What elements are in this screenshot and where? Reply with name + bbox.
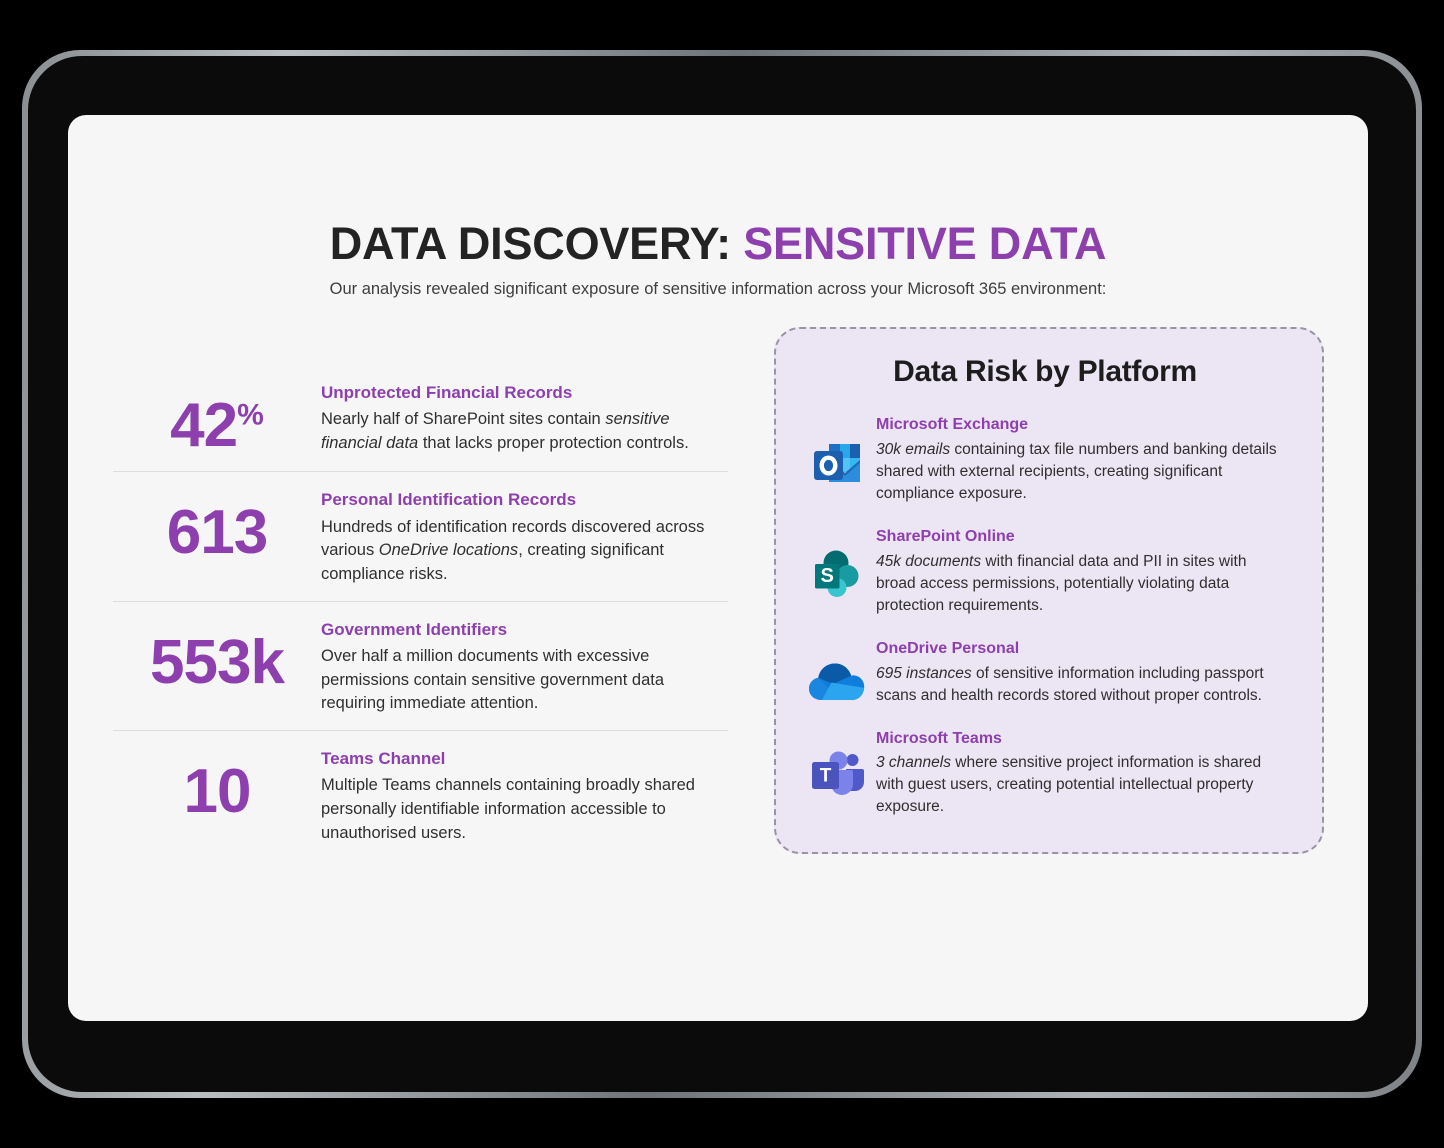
platform-name: SharePoint Online xyxy=(876,527,1286,548)
stat-text: Government Identifiers Over half a milli… xyxy=(321,615,728,716)
stat-text: Teams Channel Multiple Teams channels co… xyxy=(321,744,728,845)
stat-description: Hundreds of identification records disco… xyxy=(321,516,728,587)
page-subtitle: Our analysis revealed significant exposu… xyxy=(68,280,1368,299)
stat-value: 42% xyxy=(113,378,321,457)
platform-desc-emphasis: 695 instances xyxy=(876,665,972,682)
platform-text: Microsoft Exchange 30k emails containing… xyxy=(876,415,1292,505)
stat-row: 42% Unprotected Financial Records Nearly… xyxy=(113,365,728,471)
stat-value: 613 xyxy=(113,485,321,564)
stat-desc-emphasis: OneDrive locations xyxy=(379,541,518,559)
stat-label: Personal Identification Records xyxy=(321,489,728,511)
slide-body: 42% Unprotected Financial Records Nearly… xyxy=(68,341,1368,859)
statistics-list: 42% Unprotected Financial Records Nearly… xyxy=(113,341,728,859)
platform-description: 695 instances of sensitive information i… xyxy=(876,663,1286,707)
tablet-screen: DATA DISCOVERY: SENSITIVE DATA Our analy… xyxy=(68,115,1368,1021)
panel-title: Data Risk by Platform xyxy=(798,355,1292,389)
page-title-main: DATA DISCOVERY: xyxy=(330,218,731,269)
stat-value-number: 613 xyxy=(167,498,267,567)
stat-desc-lead: Over half a million documents with exces… xyxy=(321,647,664,713)
platform-desc-emphasis: 30k emails xyxy=(876,441,950,458)
platform-name: Microsoft Exchange xyxy=(876,415,1286,436)
stat-description: Over half a million documents with exces… xyxy=(321,645,728,716)
platform-desc-emphasis: 45k documents xyxy=(876,553,981,570)
svg-text:T: T xyxy=(820,765,832,786)
microsoft-sharepoint-icon: S xyxy=(798,527,876,603)
stat-label: Teams Channel xyxy=(321,748,728,770)
platform-description: 45k documents with financial data and PI… xyxy=(876,551,1286,617)
platform-description: 30k emails containing tax file numbers a… xyxy=(876,439,1286,505)
platform-row: T Microsoft Teams 3 channels where sensi… xyxy=(798,729,1292,819)
stat-desc-lead: Multiple Teams channels containing broad… xyxy=(321,776,695,842)
page-title-accent: SENSITIVE DATA xyxy=(743,218,1106,269)
stat-value-number: 10 xyxy=(184,757,251,826)
platform-name: Microsoft Teams xyxy=(876,729,1286,750)
data-risk-by-platform-panel: Data Risk by Platform xyxy=(774,327,1324,854)
stat-desc-tail: that lacks proper protection controls. xyxy=(418,434,689,452)
platform-row: OneDrive Personal 695 instances of sensi… xyxy=(798,639,1292,707)
platform-text: OneDrive Personal 695 instances of sensi… xyxy=(876,639,1292,707)
stat-row: 613 Personal Identification Records Hund… xyxy=(113,471,728,600)
stat-label: Government Identifiers xyxy=(321,619,728,641)
stat-value-suffix: % xyxy=(237,399,264,432)
platform-name: OneDrive Personal xyxy=(876,639,1286,660)
stat-value: 553k xyxy=(113,615,321,694)
microsoft-onedrive-icon xyxy=(798,639,876,705)
stat-value: 10 xyxy=(113,744,321,823)
microsoft-teams-icon: T xyxy=(798,729,876,801)
platform-row: Microsoft Exchange 30k emails containing… xyxy=(798,415,1292,505)
stat-desc-lead: Nearly half of SharePoint sites contain xyxy=(321,410,605,428)
stat-value-number: 42 xyxy=(170,391,237,460)
stat-text: Unprotected Financial Records Nearly hal… xyxy=(321,378,728,456)
slide-header: DATA DISCOVERY: SENSITIVE DATA Our analy… xyxy=(68,115,1368,299)
platform-row: S SharePoint Online 45k documents with f… xyxy=(798,527,1292,617)
stat-row: 10 Teams Channel Multiple Teams channels… xyxy=(113,730,728,859)
platform-text: Microsoft Teams 3 channels where sensiti… xyxy=(876,729,1292,819)
stat-text: Personal Identification Records Hundreds… xyxy=(321,485,728,586)
page-title: DATA DISCOVERY: SENSITIVE DATA xyxy=(68,220,1368,267)
svg-text:S: S xyxy=(821,565,834,587)
stat-description: Multiple Teams channels containing broad… xyxy=(321,774,728,845)
stat-row: 553k Government Identifiers Over half a … xyxy=(113,601,728,730)
platform-text: SharePoint Online 45k documents with fin… xyxy=(876,527,1292,617)
stat-description: Nearly half of SharePoint sites contain … xyxy=(321,408,728,456)
stat-label: Unprotected Financial Records xyxy=(321,382,728,404)
microsoft-outlook-icon xyxy=(798,415,876,491)
platform-description: 3 channels where sensitive project infor… xyxy=(876,752,1286,818)
stat-value-number: 553k xyxy=(150,628,284,697)
platform-desc-emphasis: 3 channels xyxy=(876,754,951,771)
